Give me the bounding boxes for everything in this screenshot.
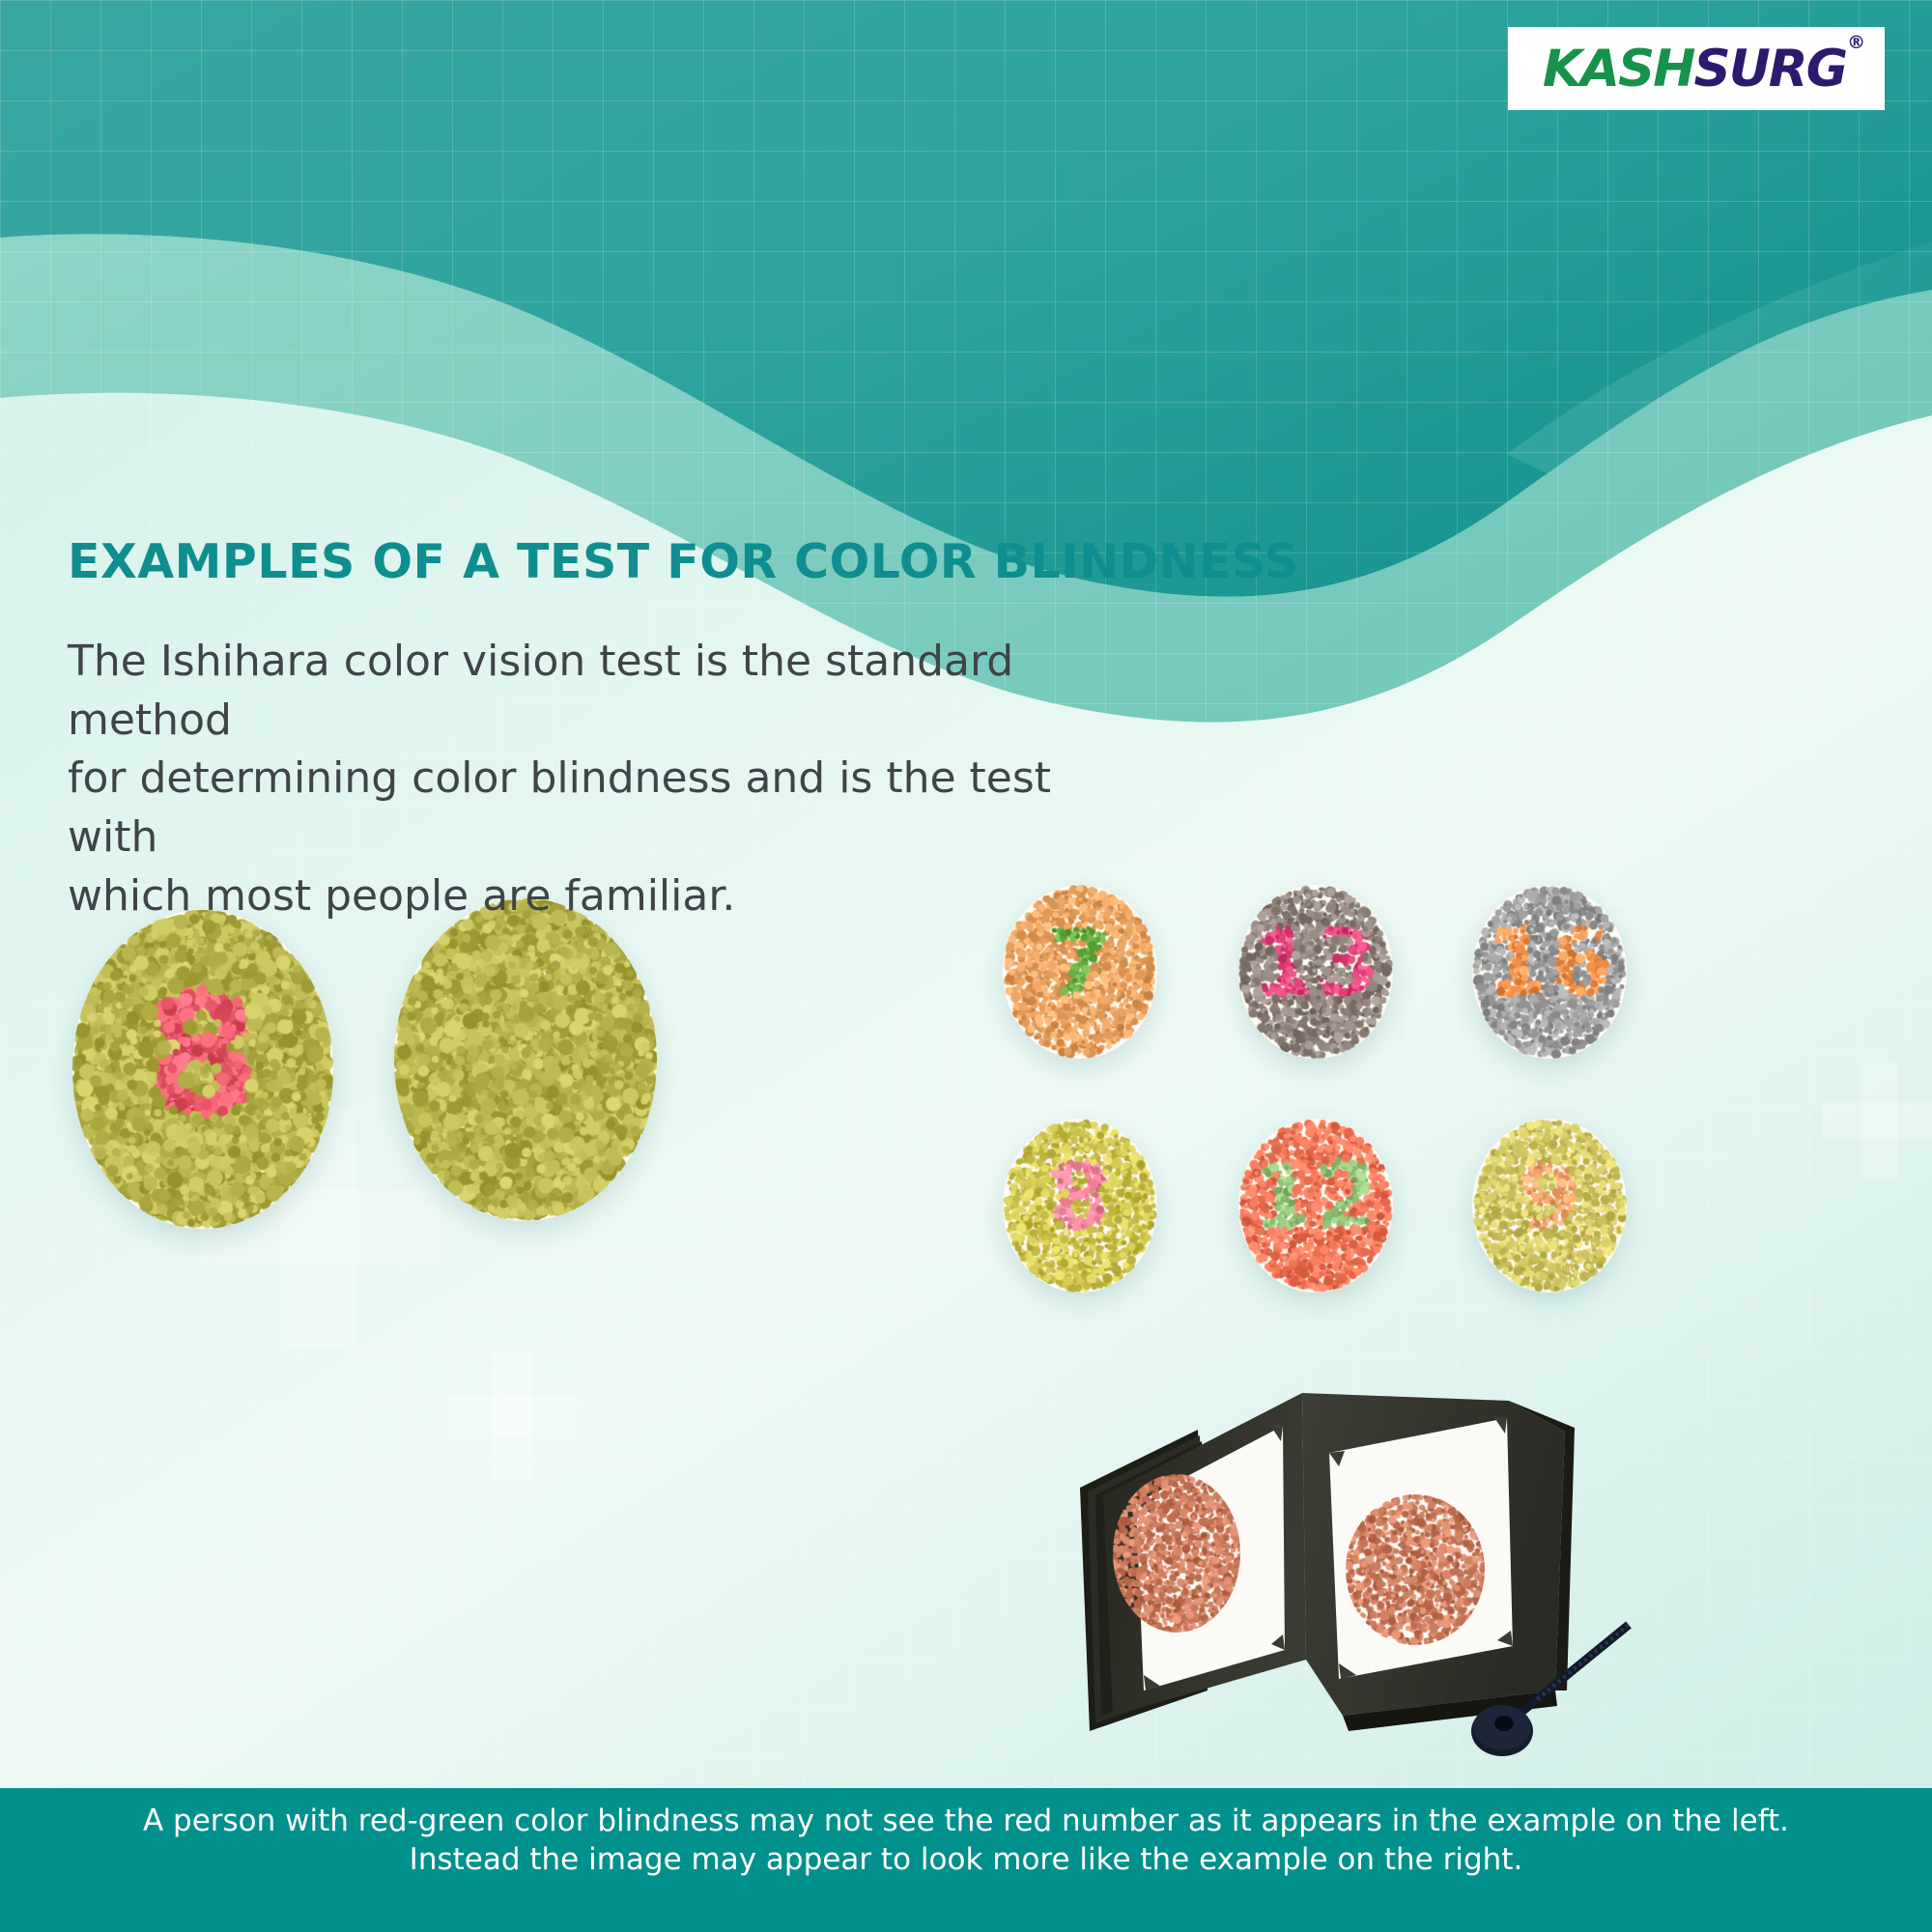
plate-dot-pattern — [394, 898, 657, 1221]
footer-banner: A person with red-green color blindness … — [0, 1788, 1932, 1932]
ishihara-test-book — [1053, 1372, 1633, 1787]
ishihara-plate-8-small — [1003, 1119, 1157, 1293]
ishihara-plate-16 — [1472, 885, 1627, 1059]
plate-dot-pattern — [1472, 1119, 1627, 1293]
intro-paragraph: The Ishihara color vision test is the st… — [68, 633, 1150, 926]
plate-dot-pattern — [72, 910, 333, 1229]
logo-kash-text: KASH — [1543, 40, 1694, 99]
ishihara-plate-13 — [1238, 885, 1393, 1059]
registered-trademark-icon: ® — [1847, 32, 1865, 53]
plate-dot-pattern — [1238, 885, 1393, 1059]
intro-line-2: for determining color blindness and is t… — [68, 750, 1150, 867]
logo-surg-text: SURG — [1694, 40, 1847, 99]
ishihara-plate-large-right — [394, 898, 657, 1221]
footer-line-2: Instead the image may appear to look mor… — [410, 1840, 1523, 1879]
footer-line-1: A person with red-green color blindness … — [143, 1802, 1789, 1840]
plate-dot-pattern — [1238, 1119, 1393, 1293]
plate-dot-pattern — [1472, 885, 1627, 1059]
logo-wordmark: KASHSURG® — [1543, 40, 1850, 99]
intro-line-3: which most people are familiar. — [68, 867, 1150, 926]
book-illustration — [1053, 1372, 1633, 1787]
kashsurg-logo[interactable]: KASHSURG® — [1508, 27, 1885, 110]
plate-dot-pattern — [1003, 1119, 1157, 1293]
ishihara-plate-12 — [1238, 1119, 1393, 1293]
page-title: EXAMPLES OF A TEST FOR COLOR BLINDNESS — [68, 534, 1299, 589]
ishihara-plate-9 — [1472, 1119, 1627, 1293]
intro-line-1: The Ishihara color vision test is the st… — [68, 633, 1150, 750]
ishihara-plate-large-left — [72, 910, 333, 1229]
